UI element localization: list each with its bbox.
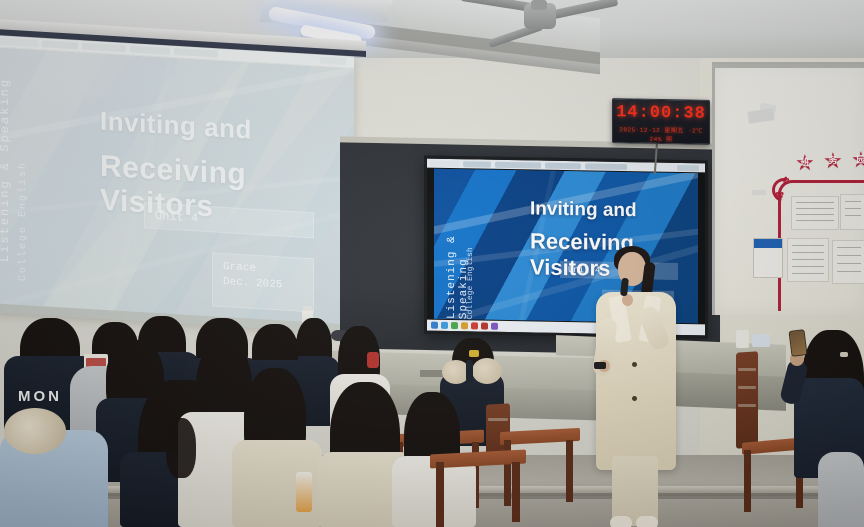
taskbar-icon[interactable] [451,322,458,329]
student-hair [166,418,196,478]
desk-leg [744,450,751,512]
bottle-cap [303,306,312,311]
taskbar-icon[interactable] [441,322,448,329]
desk-leg [566,440,573,502]
notice-sheet [840,194,864,230]
clock-time: 14:00:38 [613,103,709,124]
led-wall-clock: 14:00:38 2025-12-12 星期五 -2℃ 24% 照 [612,98,710,145]
projection-screen: Listening & Speaking College English Inv… [0,35,354,333]
notice-sheet [787,238,829,282]
bulletin-star-icon: ★园 [851,149,864,171]
browser-tab[interactable] [495,161,541,168]
bulletin-star-icon: ★务 [823,150,843,172]
red-cup [367,352,379,368]
bulletin-flower-icon: ✿ [775,190,784,201]
coat-button [632,396,637,401]
bulletin-star-icon: ★班 [795,152,815,174]
teacher-shoe [636,516,658,527]
student-body [818,452,864,527]
desk-leg [436,462,444,527]
fur-collar [472,358,502,384]
classroom-photo: Listening & Speaking College English Inv… [0,0,864,527]
tv-title-line1: Inviting and [530,198,637,222]
taskbar-icon[interactable] [431,322,438,329]
teacher-presenting [588,244,684,506]
browser-window-controls[interactable] [677,164,699,170]
smartphone[interactable] [788,329,807,357]
hair-clip [840,352,848,357]
juice-bottle [296,472,312,512]
teacher-shoe [610,516,632,527]
whiteboard-rail [712,64,864,68]
fur-hood-trim [4,408,66,454]
tissue-box [752,334,770,347]
taskbar-icon[interactable] [481,323,488,330]
ceiling-fan-cap [531,0,547,10]
chair-slat [488,418,508,421]
coat-button [632,362,637,367]
bulletin-star-char: 班 [800,159,809,168]
taskbar-icon[interactable] [491,323,498,330]
notice-sheet [791,196,839,230]
browser-tab[interactable] [463,161,491,167]
bulletin-star-char: 园 [856,156,864,165]
info-card [753,238,783,278]
collar-gap [466,360,473,382]
notice-sheet [832,240,864,284]
wooden-chair-back [736,351,758,449]
tv-vertical-course: College English [466,247,475,319]
browser-tab[interactable] [585,163,627,170]
hair-tie [469,350,479,357]
presentation-remote[interactable] [594,362,606,369]
whiteboard-mark [752,190,766,195]
info-card-header [754,239,782,248]
clock-date: 2025-12-12 星期五 -2℃ 24% 照 [613,124,709,144]
jacket-back-text: MON [18,388,62,405]
bulletin-star-char: 务 [828,157,837,166]
taskbar-icon[interactable] [461,322,468,329]
paper-cup [736,330,749,348]
desk-leg [512,462,520,522]
chair-slat [738,386,756,389]
browser-tab[interactable] [430,160,460,167]
bulletin-flower-icon: ✿ [782,176,790,185]
chair-slat [738,368,756,371]
projector-washout-overlay [0,35,354,333]
taskbar-icon[interactable] [471,322,478,329]
chair-slat [738,404,756,407]
browser-tab[interactable] [545,162,581,169]
